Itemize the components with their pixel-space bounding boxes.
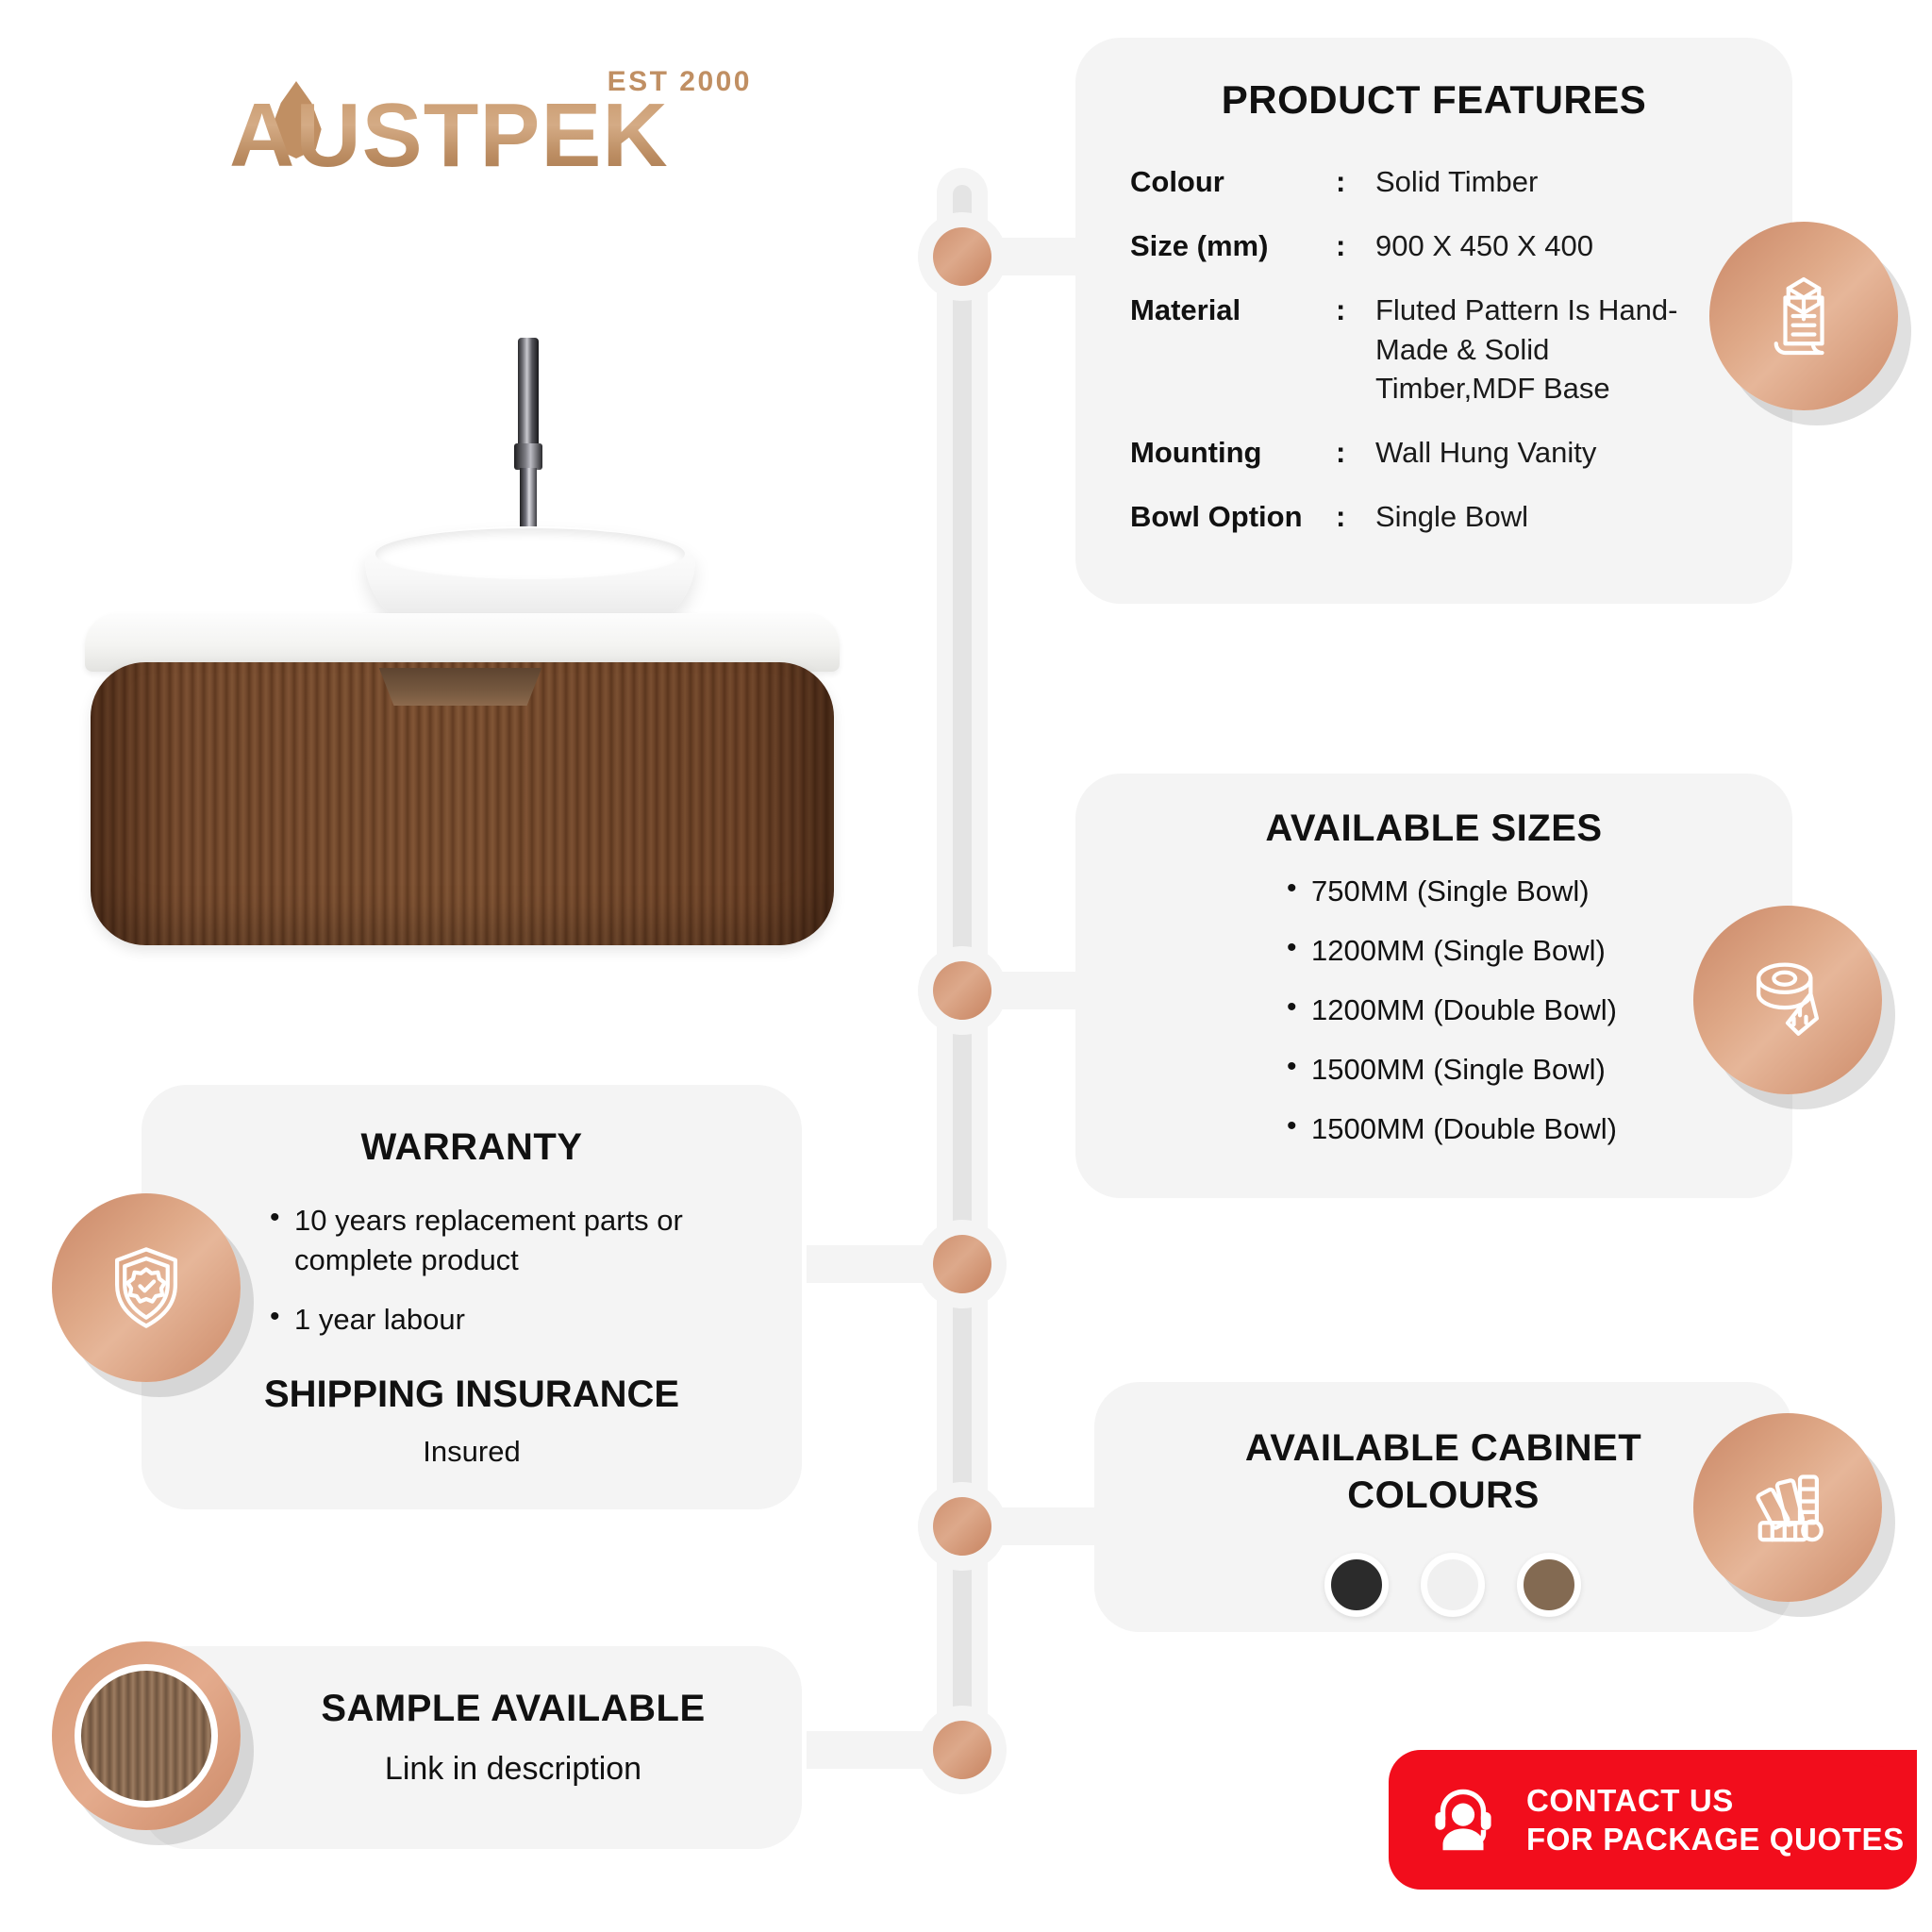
list-item: 750MM (Single Bowl) (1311, 874, 1792, 908)
rail-node-sizes[interactable] (918, 946, 1007, 1035)
feature-value: Solid Timber (1375, 162, 1538, 202)
warranty-panel: WARRANTY 10 years replacement parts or c… (142, 1085, 802, 1509)
feature-separator: : (1336, 291, 1375, 330)
feature-separator: : (1336, 497, 1375, 537)
colour-swatch-group (1094, 1553, 1792, 1617)
sample-available-subtitle: Link in description (142, 1751, 802, 1788)
shipping-insurance-value: Insured (142, 1435, 802, 1469)
contact-us-banner[interactable]: CONTACT US FOR PACKAGE QUOTES (1389, 1750, 1917, 1890)
shipping-insurance-title: SHIPPING INSURANCE (142, 1374, 802, 1416)
banner-corner-tail (1857, 1729, 1917, 1767)
feature-separator: : (1336, 226, 1375, 266)
feature-row-material: Material : Fluted Pattern Is Hand-Made &… (1130, 291, 1792, 409)
tap-body (518, 338, 539, 451)
feature-separator: : (1336, 162, 1375, 202)
available-sizes-list: 750MM (Single Bowl) 1200MM (Single Bowl)… (1075, 874, 1792, 1146)
colour-swatch-matte-black[interactable] (1324, 1553, 1389, 1617)
cabinet-colours-title-line2: COLOURS (1347, 1474, 1540, 1516)
rail-node-colours[interactable] (918, 1482, 1007, 1571)
colour-palette-icon (1693, 1413, 1882, 1602)
cabinet-colours-title-line1: AVAILABLE CABINET (1245, 1427, 1641, 1469)
rail-node-features[interactable] (918, 212, 1007, 301)
feature-row-size: Size (mm) : 900 X 450 X 400 (1130, 226, 1792, 266)
cabinet-handle-notch (368, 668, 553, 706)
sample-available-panel: SAMPLE AVAILABLE Link in description (142, 1646, 802, 1849)
timber-sample-texture (75, 1664, 218, 1807)
list-item: 10 years replacement parts or complete p… (294, 1201, 700, 1279)
product-features-title: PRODUCT FEATURES (1075, 77, 1792, 123)
timber-sample-swatch-icon (52, 1641, 241, 1830)
feature-row-colour: Colour : Solid Timber (1130, 162, 1792, 202)
available-sizes-panel: AVAILABLE SIZES 750MM (Single Bowl) 1200… (1075, 774, 1792, 1198)
tap-spout (514, 443, 542, 470)
feature-key: Mounting (1130, 433, 1336, 473)
sample-available-title: SAMPLE AVAILABLE (142, 1688, 802, 1730)
warranty-title: WARRANTY (142, 1126, 802, 1169)
feature-key: Colour (1130, 162, 1336, 202)
brand-wordmark: AUSTPEK (229, 91, 669, 181)
feature-value: Wall Hung Vanity (1375, 433, 1596, 473)
list-item: 1500MM (Double Bowl) (1311, 1112, 1792, 1146)
colour-swatch-timber-brown[interactable] (1517, 1553, 1581, 1617)
measuring-tape-icon (1693, 906, 1882, 1094)
feature-value: Fluted Pattern Is Hand-Made & Solid Timb… (1375, 291, 1687, 409)
headset-support-icon (1423, 1779, 1504, 1860)
colour-swatch-gloss-white[interactable] (1421, 1553, 1485, 1617)
feature-key: Bowl Option (1130, 497, 1336, 537)
spec-sheet-icon (1709, 222, 1898, 410)
contact-us-text: CONTACT US FOR PACKAGE QUOTES (1526, 1781, 1905, 1859)
brand-logo: EST 2000 AUSTPEK (212, 66, 759, 189)
basin-rim (375, 528, 685, 579)
contact-us-line1: CONTACT US (1526, 1781, 1905, 1820)
cabinet-colours-panel: AVAILABLE CABINET COLOURS (1094, 1382, 1792, 1632)
shield-check-icon (52, 1193, 241, 1382)
feature-row-mounting: Mounting : Wall Hung Vanity (1130, 433, 1792, 473)
available-sizes-title: AVAILABLE SIZES (1075, 808, 1792, 850)
feature-row-bowl-option: Bowl Option : Single Bowl (1130, 497, 1792, 537)
feature-value: Single Bowl (1375, 497, 1528, 537)
warranty-list: 10 years replacement parts or complete p… (142, 1201, 802, 1340)
product-photo (85, 311, 840, 953)
feature-key: Material (1130, 291, 1336, 330)
rail-node-sample[interactable] (918, 1706, 1007, 1794)
cabinet-colours-title: AVAILABLE CABINET COLOURS (1094, 1425, 1792, 1519)
contact-us-line2: FOR PACKAGE QUOTES (1526, 1820, 1905, 1858)
feature-key: Size (mm) (1130, 226, 1336, 266)
feature-separator: : (1336, 433, 1375, 473)
infographic-canvas: EST 2000 AUSTPEK PRODUCT FEATURES Colour… (0, 0, 1932, 1932)
product-features-panel: PRODUCT FEATURES Colour : Solid Timber S… (1075, 38, 1792, 604)
feature-value: 900 X 450 X 400 (1375, 226, 1593, 266)
rail-node-warranty[interactable] (918, 1220, 1007, 1308)
product-features-table: Colour : Solid Timber Size (mm) : 900 X … (1130, 162, 1792, 537)
tap-stem (520, 468, 537, 532)
list-item: 1 year labour (294, 1300, 700, 1340)
